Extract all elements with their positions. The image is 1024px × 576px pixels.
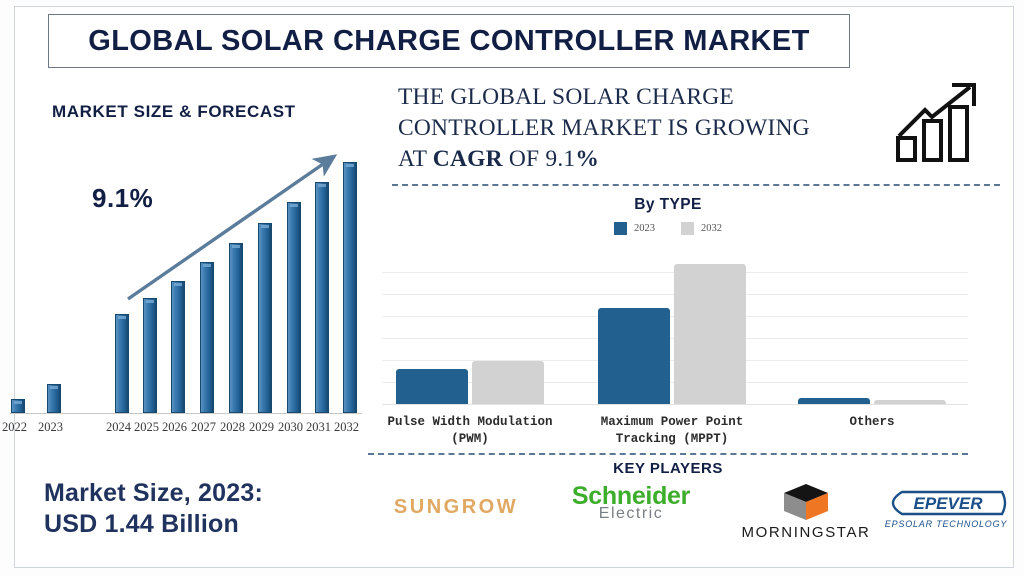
key-players-title: KEY PLAYERS	[368, 460, 968, 477]
logo-epever: EPEVER EPSOLAR TECHNOLOGY	[876, 488, 1016, 529]
forecast-bar	[115, 314, 129, 413]
divider-bottom	[368, 453, 968, 455]
forecast-year-label: 2023	[38, 420, 63, 435]
title-box: GLOBAL SOLAR CHARGE CONTROLLER MARKET	[48, 14, 850, 68]
forecast-bar	[343, 162, 357, 413]
bytype-bar	[598, 308, 670, 404]
forecast-year-label: 2022	[2, 420, 27, 435]
forecast-bar	[200, 262, 214, 413]
headline-statement: THE GLOBAL SOLAR CHARGE CONTROLLER MARKE…	[398, 82, 838, 175]
page-title: GLOBAL SOLAR CHARGE CONTROLLER MARKET	[88, 25, 810, 58]
market-size-line-2: USD 1.44 Billion	[44, 509, 344, 540]
forecast-bar	[229, 243, 243, 413]
forecast-bar	[143, 298, 157, 413]
bytype-bar	[472, 361, 544, 404]
market-size-line-1: Market Size, 2023:	[44, 478, 344, 509]
bytype-bar	[674, 264, 746, 404]
market-size-callout: Market Size, 2023: USD 1.44 Billion	[44, 478, 344, 540]
legend-label: 2032	[701, 223, 722, 234]
headline-emphasis-percent: %	[575, 146, 599, 172]
logo-epever-tagline: EPSOLAR TECHNOLOGY	[876, 519, 1016, 529]
bytype-category-label: Others	[772, 414, 972, 431]
svg-text:EPEVER: EPEVER	[914, 494, 984, 513]
bytype-bar	[874, 400, 946, 404]
logo-morningstar-text: MORNINGSTAR	[726, 524, 886, 541]
headline-emphasis-cagr: CAGR	[433, 146, 503, 172]
logo-schneider-electric: Schneider Electric	[546, 484, 716, 522]
forecast-year-label: 2030	[278, 420, 303, 435]
headline-part-2: OF 9.1	[503, 146, 576, 172]
legend-swatch	[614, 222, 627, 235]
forecast-year-label: 2025	[134, 420, 159, 435]
bytype-category-label: Pulse Width Modulation (PWM)	[370, 414, 570, 448]
infographic-root: GLOBAL SOLAR CHARGE CONTROLLER MARKET MA…	[0, 0, 1024, 576]
market-forecast-panel: MARKET SIZE & FORECAST 9.1% 202220232024…	[0, 78, 362, 458]
forecast-year-label: 2029	[249, 420, 274, 435]
forecast-year-labels: 2022202320242025202620272028202920302031…	[0, 420, 362, 440]
morningstar-cube-icon	[780, 482, 832, 522]
logo-sungrow-text: SUNGROW	[376, 496, 536, 519]
forecast-year-label: 2024	[106, 420, 131, 435]
bytype-legend: 20232032	[368, 222, 968, 235]
legend-item: 2032	[681, 222, 722, 235]
legend-label: 2023	[634, 223, 655, 234]
legend-item: 2023	[614, 222, 655, 235]
forecast-bar	[11, 399, 25, 413]
logo-sungrow: SUNGROW	[376, 496, 536, 519]
growth-chart-icon	[894, 80, 986, 164]
forecast-axis-line	[10, 413, 362, 414]
forecast-bar	[47, 384, 61, 413]
forecast-bar-group	[10, 153, 362, 413]
forecast-year-label: 2027	[191, 420, 216, 435]
forecast-year-label: 2032	[334, 420, 359, 435]
forecast-bar	[287, 202, 301, 413]
right-panel: THE GLOBAL SOLAR CHARGE CONTROLLER MARKE…	[368, 74, 1008, 474]
bytype-title: By TYPE	[368, 196, 968, 214]
key-players-logos: SUNGROW Schneider Electric MORNINGSTAR E…	[368, 482, 1008, 542]
bytype-category-label: Maximum Power Point Tracking (MPPT)	[572, 414, 772, 448]
bytype-chart	[382, 250, 968, 405]
forecast-year-label: 2028	[220, 420, 245, 435]
forecast-year-label: 2031	[306, 420, 331, 435]
bytype-bar	[396, 369, 468, 404]
logo-morningstar: MORNINGSTAR	[726, 482, 886, 541]
forecast-year-label: 2026	[162, 420, 187, 435]
forecast-bar	[258, 223, 272, 413]
forecast-bar	[315, 182, 329, 413]
legend-swatch	[681, 222, 694, 235]
divider-top	[392, 184, 1000, 186]
epever-swoosh-icon: EPEVER	[882, 488, 1010, 518]
bytype-bar	[798, 398, 870, 404]
market-forecast-chart: 2022202320242025202620272028202920302031…	[0, 78, 362, 458]
bytype-axis-line	[382, 404, 968, 405]
forecast-bar	[171, 281, 185, 413]
